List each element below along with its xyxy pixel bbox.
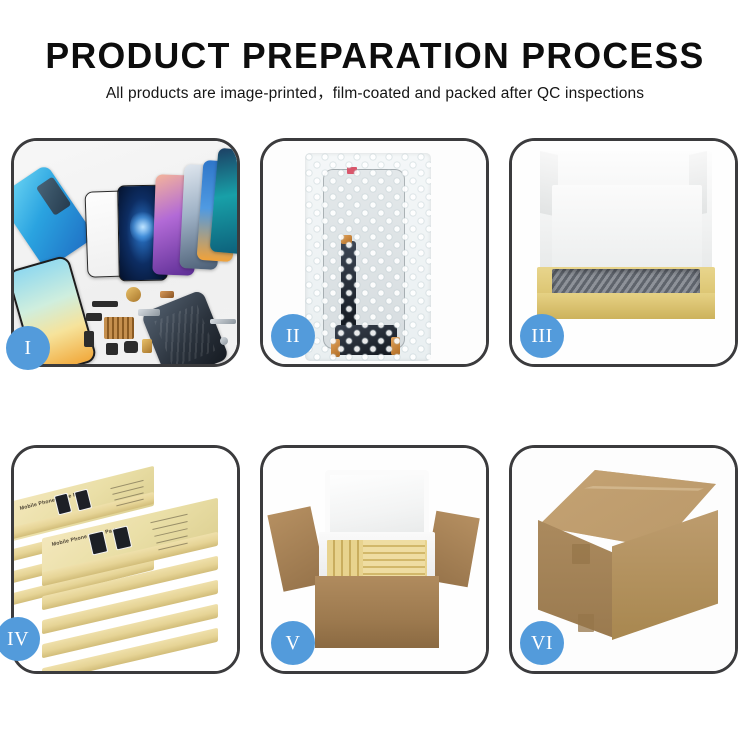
retail-box-side-rear	[14, 492, 154, 540]
box-spec-line-b	[112, 486, 143, 495]
retail-box-front-1	[42, 532, 218, 587]
part-bracket	[84, 331, 94, 347]
process-step-6[interactable]: VI	[509, 445, 738, 674]
retail-box-rear-3	[14, 536, 154, 584]
process-step-3[interactable]: III	[509, 138, 738, 367]
box-spec-line-h	[156, 535, 187, 543]
carton-body	[315, 576, 439, 648]
tempered-glass-sheet	[85, 190, 134, 278]
packing-tape	[554, 486, 704, 498]
retail-box-label-front: Mobile Phone Spare Parts	[51, 527, 119, 548]
box-spec-line-a	[110, 480, 143, 489]
step-1-image	[14, 141, 237, 364]
part-gold-chip	[142, 339, 152, 353]
part-screw	[220, 337, 228, 345]
step-badge-3: III	[520, 314, 564, 358]
tape-tab-upper	[572, 544, 590, 564]
box-lid	[540, 151, 712, 273]
carton-top-face	[538, 470, 716, 548]
carton-flap-right	[424, 511, 479, 588]
bubble-wrap-bag	[305, 153, 431, 361]
gold-connector-top	[341, 235, 352, 244]
part-connector	[160, 291, 174, 298]
packed-boxes-row-b	[363, 540, 425, 582]
gold-connector-left	[331, 339, 340, 357]
styrofoam-liner	[319, 532, 435, 588]
box-spec-line-d	[116, 499, 143, 507]
gold-connector-right	[391, 337, 400, 355]
process-step-1[interactable]: I	[11, 138, 240, 367]
part-motor	[124, 341, 138, 353]
box-phone-thumb-d	[112, 525, 133, 550]
step-4-image: Mobile Phone Spare Parts Mobile Phone Sp…	[14, 448, 237, 671]
carton-left-face	[538, 520, 614, 638]
phone-silver	[179, 164, 222, 270]
phone-purple-gradient	[152, 174, 197, 275]
lcd-screen-display	[117, 185, 168, 282]
blue-protective-film-phone	[14, 164, 95, 271]
header: PRODUCT PREPARATION PROCESS All products…	[0, 0, 750, 104]
box-lid-flap-left	[540, 151, 558, 217]
bubble-texture	[305, 153, 431, 361]
box-spec-line-f	[152, 521, 187, 530]
box-stack-photo: Mobile Phone Spare Parts Mobile Phone Sp…	[14, 448, 237, 671]
phone-teal-wave	[210, 148, 237, 255]
box-lid-flap-right	[689, 151, 707, 217]
packed-boxes-row-a	[327, 540, 427, 582]
parts-photo	[14, 141, 237, 364]
retail-box-rear-2	[14, 514, 154, 562]
box-phone-thumb-c	[88, 530, 109, 555]
retail-box-front-5	[42, 628, 218, 671]
retail-box-rear-4	[14, 558, 154, 606]
box-phone-thumb-b	[74, 489, 92, 512]
part-speaker	[126, 287, 141, 302]
retail-box-front-2	[42, 556, 218, 611]
step-badge-6: VI	[520, 621, 564, 665]
retail-box-top-front	[42, 498, 218, 585]
box-spec-line-e	[150, 514, 187, 524]
box-spec-line-i	[158, 543, 187, 551]
retail-box-label-rear: Mobile Phone Spare Parts	[19, 489, 87, 511]
phone-orange-ui	[197, 160, 237, 262]
process-step-4[interactable]: Mobile Phone Spare Parts Mobile Phone Sp…	[11, 445, 240, 674]
step-badge-5: V	[271, 621, 315, 665]
tape-tab-lower	[578, 614, 594, 632]
carton-right-face	[612, 510, 718, 640]
box-spec-line-g	[154, 528, 187, 537]
carton-flap-left	[267, 506, 326, 591]
white-foam-sheet	[552, 185, 702, 271]
retail-box-top-rear	[14, 466, 154, 542]
part-flex-cable	[86, 313, 102, 321]
retail-box-front-4	[42, 604, 218, 659]
part-button	[106, 343, 118, 355]
product-preparation-infographic: PRODUCT PREPARATION PROCESS All products…	[0, 0, 750, 750]
part-tweezers	[210, 319, 236, 324]
phone-back-housing	[141, 289, 230, 364]
part-shield	[138, 309, 160, 316]
screen-connector-board	[335, 325, 397, 355]
part-strip	[92, 301, 118, 307]
grey-foam-padding	[552, 269, 700, 299]
step-badge-1: I	[6, 326, 50, 370]
wrapped-screen	[323, 169, 405, 349]
retail-box-front-3	[42, 580, 218, 635]
process-step-2[interactable]: II	[260, 138, 489, 367]
process-step-grid: I II	[11, 138, 739, 674]
step-badge-2: II	[271, 314, 315, 358]
box-phone-thumb-a	[54, 493, 72, 516]
kraft-tray	[537, 267, 715, 319]
process-step-5[interactable]: V	[260, 445, 489, 674]
part-camera-array	[104, 317, 134, 339]
kraft-tray-front	[537, 293, 715, 319]
box-spec-line-c	[114, 492, 143, 500]
screen-flex-cable	[341, 241, 356, 337]
styrofoam-lid	[325, 470, 429, 538]
page-title: PRODUCT PREPARATION PROCESS	[4, 34, 747, 78]
qc-sticker	[347, 167, 357, 174]
page-subtitle: All products are image-printed，film-coat…	[0, 84, 750, 104]
